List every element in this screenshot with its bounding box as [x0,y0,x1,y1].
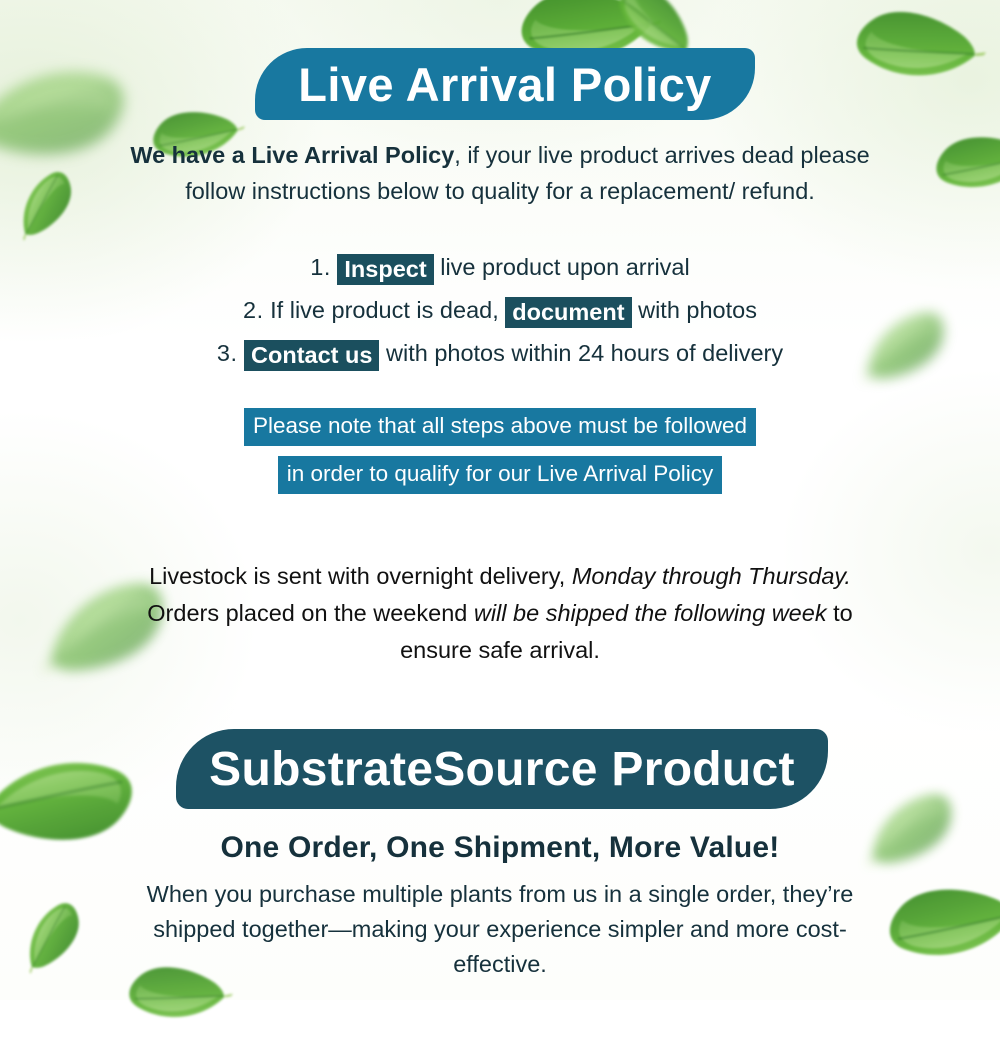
note-row: Please note that all steps above must be… [110,408,890,446]
live-arrival-policy-banner: Live Arrival Policy [255,48,755,120]
step-text: with photos [638,297,757,323]
step-highlight-document: document [505,297,631,328]
step-text: with photos within 24 hours of delivery [386,340,783,366]
step-text: live product upon arrival [440,254,690,280]
note-row: in order to qualify for our Live Arrival… [110,456,890,494]
shipping-schedule-paragraph: Livestock is sent with overnight deliver… [140,558,860,669]
step-text-pre: If live product is dead, [270,297,499,323]
product-subheading: One Order, One Shipment, More Value! [120,831,880,865]
step-highlight-contact-us: Contact us [244,340,379,371]
product-description: When you purchase multiple plants from u… [110,877,890,982]
shipping-line2-italic: will be shipped the following week [474,600,827,626]
list-item: 1. Inspect live product upon arrival [110,246,890,289]
policy-intro-paragraph: We have a Live Arrival Policy, if your l… [100,137,900,209]
step-highlight-inspect: Inspect [337,254,433,285]
policy-intro-strong: We have a Live Arrival Policy [130,142,454,168]
list-item: 2. If live product is dead, document wit… [110,289,890,332]
shipping-line1-plain: Livestock is sent with overnight deliver… [149,563,572,589]
shipping-line1-italic: Monday through Thursday. [572,563,851,589]
step-number: 3. [217,340,238,366]
policy-steps-list: 1. Inspect live product upon arrival 2. … [110,246,890,375]
flyer-content: Live Arrival Policy We have a Live Arriv… [0,0,1000,1000]
note-line-1: Please note that all steps above must be… [244,408,756,446]
note-line-2: in order to qualify for our Live Arrival… [278,456,722,494]
policy-note-block: Please note that all steps above must be… [110,408,890,504]
shipping-line2-plain: Orders placed on the weekend [147,600,474,626]
step-number: 2. [243,297,264,323]
list-item: 3. Contact us with photos within 24 hour… [110,332,890,375]
step-number: 1. [310,254,331,280]
substratesource-product-banner: SubstrateSource Product [176,729,828,809]
